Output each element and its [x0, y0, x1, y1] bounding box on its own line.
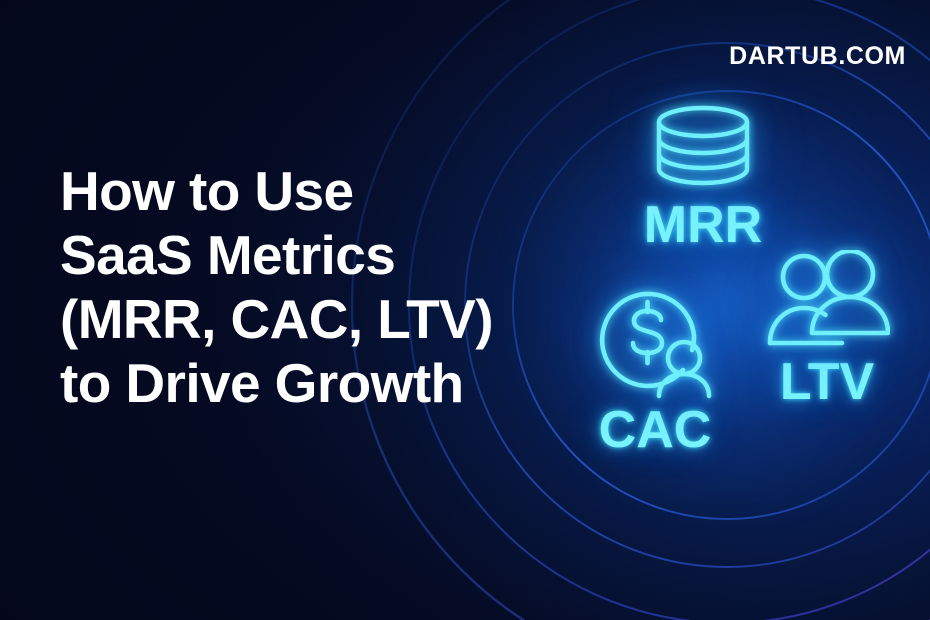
title-line-1: How to Use [60, 159, 510, 223]
database-stack-icon [652, 105, 754, 187]
cover-image: DARTUB.COM How to Use SaaS Metrics (MRR,… [0, 0, 930, 620]
metric-ltv-label: LTV [752, 356, 902, 408]
site-logo: DARTUB.COM [729, 42, 906, 71]
users-pair-icon [764, 250, 890, 352]
metric-cac-label: CAC [570, 404, 740, 456]
metric-mrr-label: MRR [608, 199, 798, 251]
dollar-circle-person-icon [591, 282, 719, 400]
metric-ltv: LTV [752, 250, 902, 408]
metric-cac: CAC [570, 282, 740, 456]
title-line-2: SaaS Metrics [60, 223, 510, 287]
title-line-3: (MRR, CAC, LTV) [60, 287, 510, 351]
metric-mrr: MRR [608, 105, 798, 251]
page-title: How to Use SaaS Metrics (MRR, CAC, LTV) … [60, 159, 510, 415]
title-line-4: to Drive Growth [60, 351, 510, 415]
